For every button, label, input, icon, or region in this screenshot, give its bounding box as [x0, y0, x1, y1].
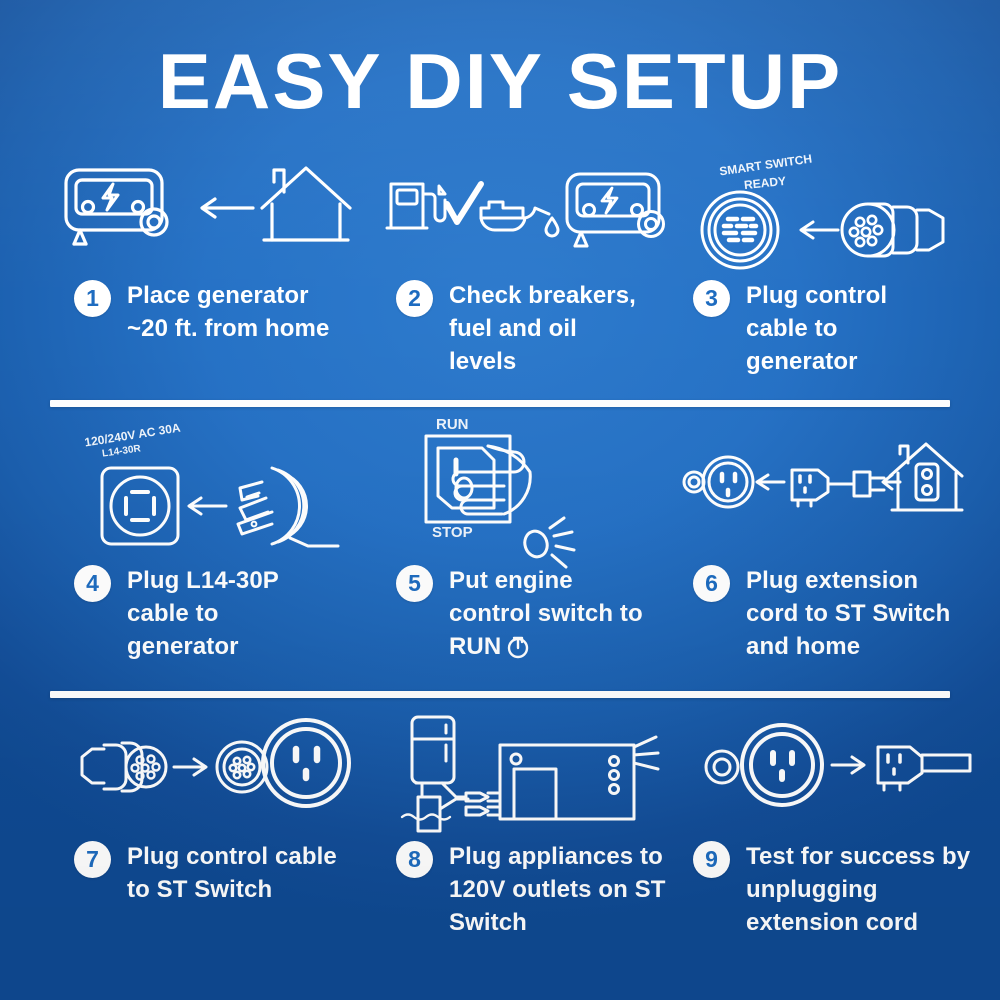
step-7-caption: 7 Plug control cable to ST Switch: [74, 840, 370, 906]
st-switch-outlet-icon: [706, 725, 822, 805]
step-1-caption: 1 Place generator ~20 ft. from home: [74, 279, 370, 345]
step-number-badge: 9: [693, 841, 730, 878]
left-arrow-icon: [189, 498, 226, 514]
step-card-5: RUN STOP: [380, 412, 668, 691]
control-receptacle-icon: [702, 192, 778, 268]
control-cable-plug-icon: [842, 204, 943, 256]
left-arrow-icon: [801, 222, 838, 238]
unplugged-cord-icon: [878, 747, 970, 790]
stop-light-icon: [522, 518, 574, 567]
step-6-text: Plug extension cord to ST Switch and hom…: [746, 564, 961, 663]
step-5-caption: 5 Put engine control switch to RUN: [396, 564, 668, 668]
step-number-badge: 1: [74, 280, 111, 317]
step-card-4: 120/240V AC 30A L14-30R: [52, 412, 370, 691]
step-card-7: 7 Plug control cable to ST Switch: [52, 703, 370, 980]
run-label: RUN: [436, 416, 469, 433]
step-8-text: Plug appliances to 120V outlets on ST Sw…: [449, 840, 668, 939]
step-row-3: 7 Plug control cable to ST Switch: [0, 703, 1000, 980]
step-9-caption: 9 Test for success by unplugging extensi…: [693, 840, 980, 939]
step-9-text: Test for success by unplugging extension…: [746, 840, 978, 939]
step-card-2: 2 Check breakers, fuel and oil levels: [380, 150, 668, 400]
st-switch-panel-icon: [500, 737, 658, 819]
house-outlet-icon: [883, 444, 962, 510]
step-card-6: 6 Plug extension cord to ST Switch and h…: [680, 412, 980, 691]
left-arrow-icon: [202, 199, 253, 217]
row-divider-1: [50, 400, 950, 407]
step-number-badge: 7: [74, 841, 111, 878]
step-card-3: SMART SWITCH READY: [680, 150, 980, 400]
right-arrow-icon: [174, 759, 206, 775]
extension-cord-icon: [792, 470, 884, 506]
step-1-text: Place generator ~20 ft. from home: [127, 279, 337, 345]
row-divider-2: [50, 691, 950, 698]
step-2-artwork: [380, 150, 668, 275]
oil-can-icon: [481, 202, 558, 236]
step-7-artwork: [52, 703, 370, 838]
generator-icon: [66, 170, 167, 244]
step-card-1: 1 Place generator ~20 ft. from home: [52, 150, 370, 400]
step-card-9: 9 Test for success by unplugging extensi…: [680, 703, 980, 980]
st-switch-outlet-icon: [684, 457, 753, 507]
step-7-text: Plug control cable to ST Switch: [127, 840, 359, 906]
step-5-label: Put engine control switch to RUN: [449, 567, 643, 660]
step-row-2: 120/240V AC 30A L14-30R: [0, 412, 1000, 691]
sump-pump-icon: [402, 783, 468, 831]
step-2-caption: 2 Check breakers, fuel and oil levels: [396, 279, 668, 378]
step-3-artwork: SMART SWITCH READY: [680, 150, 980, 275]
fuel-pump-icon: [387, 184, 445, 228]
step-4-text: Plug L14-30P cable to generator: [127, 564, 327, 663]
step-5-artwork: RUN STOP: [380, 412, 668, 562]
step-9-artwork: [680, 703, 980, 838]
step-number-badge: 6: [693, 565, 730, 602]
step-6-artwork: [680, 412, 980, 562]
generator-icon: [567, 174, 664, 246]
switch-knob-icon: [505, 633, 531, 668]
step-number-badge: 8: [396, 841, 433, 878]
step-8-caption: 8 Plug appliances to 120V outlets on ST …: [396, 840, 668, 939]
page-title: EASY DIY SETUP: [0, 42, 1000, 120]
step-8-artwork: [380, 703, 668, 838]
step-5-text: Put engine control switch to RUN: [449, 564, 659, 668]
step-4-caption: 4 Plug L14-30P cable to generator: [74, 564, 370, 663]
plug-prongs: [466, 793, 498, 815]
step-number-badge: 3: [693, 280, 730, 317]
step-3-text: Plug control cable to generator: [746, 279, 936, 378]
infographic-poster: EASY DIY SETUP: [0, 0, 1000, 1000]
refrigerator-icon: [412, 717, 466, 797]
checkmark-icon: [447, 184, 481, 222]
step-card-8: 8 Plug appliances to 120V outlets on ST …: [380, 703, 668, 980]
step-3-caption: 3 Plug control cable to generator: [693, 279, 980, 378]
st-switch-outlet-icon: [217, 720, 349, 806]
step-row-1: 1 Place generator ~20 ft. from home: [0, 150, 1000, 400]
step-number-badge: 2: [396, 280, 433, 317]
step-6-caption: 6 Plug extension cord to ST Switch and h…: [693, 564, 980, 663]
step-2-text: Check breakers, fuel and oil levels: [449, 279, 649, 378]
l14-30p-plug-icon: [238, 468, 338, 546]
right-arrow-icon: [832, 757, 864, 773]
house-icon: [262, 168, 350, 240]
step-4-artwork: 120/240V AC 30A L14-30R: [52, 412, 370, 562]
left-arrow-icon: [757, 475, 784, 489]
step-number-badge: 4: [74, 565, 111, 602]
step-number-badge: 5: [396, 565, 433, 602]
l14-30r-outlet-icon: [102, 468, 178, 544]
step-1-artwork: [52, 150, 370, 275]
smart-switch-ready-label-line1: SMART SWITCH: [718, 152, 812, 179]
control-cable-plug-icon: [82, 743, 166, 791]
